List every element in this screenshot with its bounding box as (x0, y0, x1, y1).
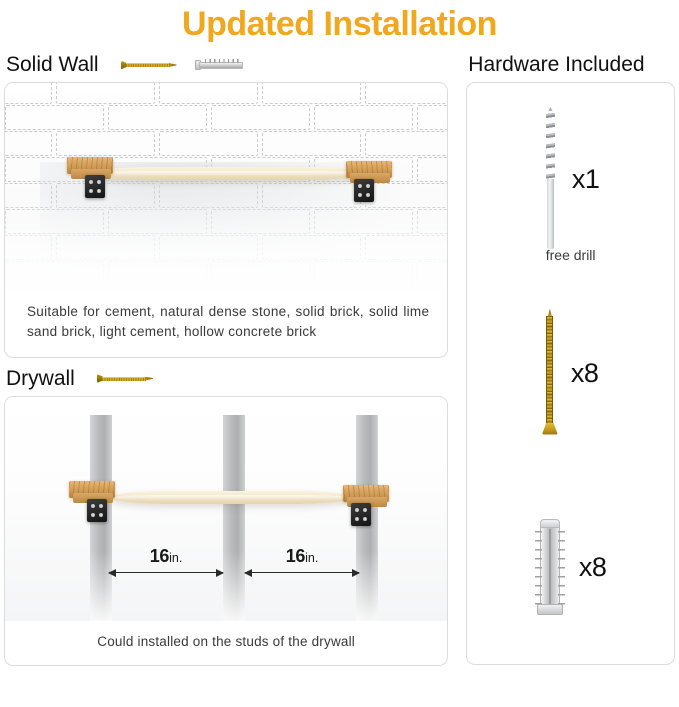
shelf-board (110, 491, 352, 504)
mounting-plate-left (85, 175, 105, 198)
floating-shelf-assembly (5, 397, 447, 621)
dimension-right-unit: in. (305, 551, 318, 565)
drywall-panel: 16in. 16in. Co (4, 396, 448, 666)
screw-icon (543, 309, 557, 439)
wall-anchor-icon (535, 519, 565, 615)
mounting-plate-left (87, 499, 107, 522)
dimension-left-value: 16 (150, 546, 169, 566)
page-title: Updated Installation (0, 0, 679, 48)
dimension-row: 16in. 16in. (5, 537, 447, 581)
hardware-included-panel: x1 free drill x8 (466, 82, 675, 665)
brick-wall-illustration (5, 83, 447, 290)
wall-anchor-icon (195, 59, 245, 71)
shelf-bracket-left (67, 157, 113, 197)
solid-wall-hardware-icons (121, 59, 245, 71)
drywall-header: Drywall (4, 362, 448, 396)
hardware-included-header: Hardware Included (466, 48, 675, 82)
drywall-caption: Could installed on the studs of the dryw… (5, 621, 447, 665)
screw-icon (97, 374, 153, 383)
mounting-plate-right (351, 503, 371, 526)
dimension-right: 16in. (245, 537, 359, 581)
solid-wall-heading: Solid Wall (6, 53, 99, 77)
hardware-item-anchor: x8 (467, 470, 674, 664)
right-column: Hardware Included x1 free drill (448, 48, 675, 666)
solid-wall-header: Solid Wall (4, 48, 448, 82)
content-columns: Solid Wall (0, 48, 679, 666)
drywall-illustration: 16in. 16in. (5, 397, 447, 621)
drywall-hardware-icons (97, 374, 153, 383)
hardware-qty-anchor: x8 (579, 552, 607, 583)
dimension-right-value: 16 (286, 546, 305, 566)
hardware-qty-drill: x1 (572, 164, 600, 195)
hardware-item-drill: x1 free drill (467, 83, 674, 277)
floating-shelf-assembly (5, 83, 447, 290)
solid-wall-caption: Suitable for cement, natural dense stone… (5, 290, 447, 357)
shelf-bracket-left (69, 481, 115, 521)
hardware-qty-screw: x8 (571, 358, 599, 389)
shelf-bracket-right (346, 161, 392, 201)
mounting-plate-right (354, 179, 374, 202)
left-column: Solid Wall (4, 48, 448, 666)
drill-bit-icon (542, 111, 558, 249)
screw-icon (121, 61, 177, 70)
shelf-board (87, 167, 369, 180)
dimension-right-label: 16in. (245, 546, 359, 567)
dimension-left-unit: in. (169, 551, 182, 565)
dimension-left-label: 16in. (109, 546, 223, 567)
hardware-item-screw: x8 (467, 277, 674, 471)
solid-wall-panel: Suitable for cement, natural dense stone… (4, 82, 448, 358)
dimension-left: 16in. (109, 537, 223, 581)
hardware-label-drill: free drill (467, 247, 674, 263)
hardware-included-heading: Hardware Included (468, 53, 644, 77)
drywall-heading: Drywall (6, 367, 75, 391)
shelf-bracket-right (343, 485, 389, 525)
